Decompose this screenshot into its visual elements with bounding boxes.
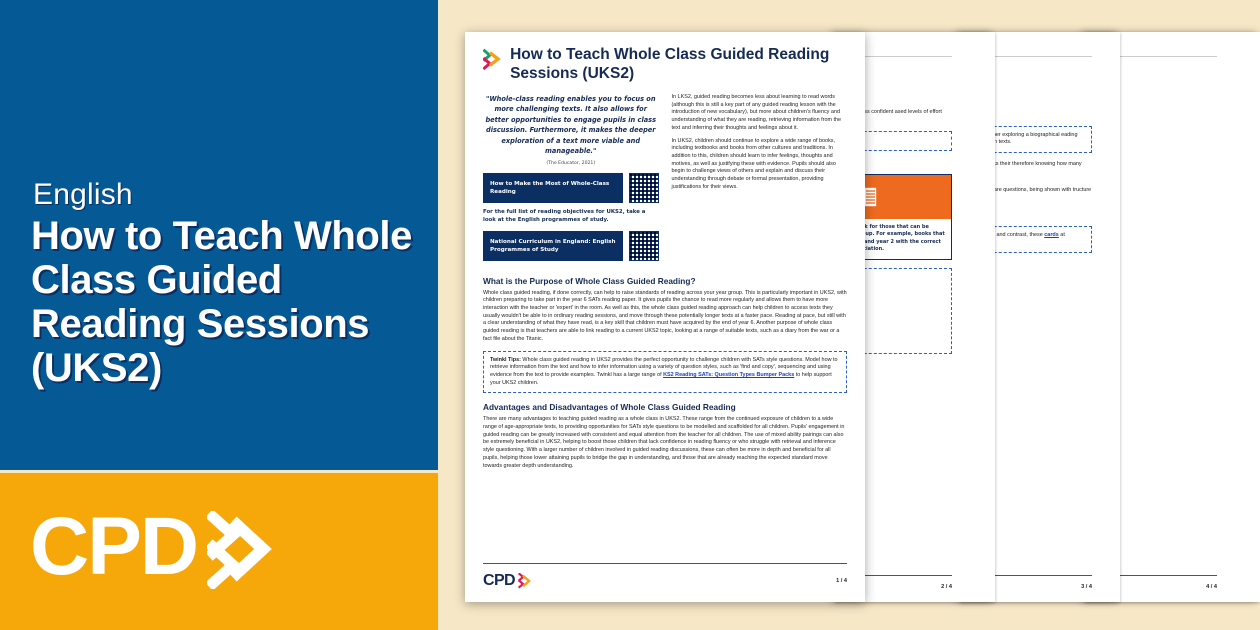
twinkl-chevrons-icon [483,46,501,72]
left-brand-panel: English How to Teach Whole Class Guided … [0,0,438,630]
purpose-body: Whole class guided reading, if done corr… [483,290,847,344]
link-card-1-label[interactable]: How to Make the Most of Whole-Class Read… [483,173,623,203]
page-title: How to Teach Whole Class Guided Reading … [31,214,426,390]
intro-paragraph-2: In UKS2, children should continue to exp… [672,138,848,192]
link-card-2-label[interactable]: National Curriculum in England: English … [483,231,623,261]
twinkl-tips-box: Twinkl Tips: Whole class guided reading … [483,351,847,394]
screenshot-canvas: English How to Teach Whole Class Guided … [0,0,1260,630]
document-page-1[interactable]: How to Teach Whole Class Guided Reading … [465,32,865,602]
pull-quote: "Whole-class reading enables you to focu… [483,94,659,156]
footer-cpd-logo: CPD [483,572,532,590]
cpd-wordmark: CPD [30,506,197,588]
heading-advantages: Advantages and Disadvantages of Whole Cl… [483,402,847,412]
footer-rule [483,563,847,564]
qr-code-icon[interactable] [629,231,659,261]
document-header: How to Teach Whole Class Guided Reading … [483,46,847,83]
page-number: 2 / 4 [941,584,952,590]
page-1-columns: "Whole-class reading enables you to focu… [483,94,847,267]
qr-code-icon[interactable] [629,173,659,203]
subject-label: English [33,178,133,212]
page-number: 3 / 4 [1081,584,1092,590]
intro-paragraph-1: In LKS2, guided reading becomes less abo… [672,94,848,133]
column-right: In LKS2, guided reading becomes less abo… [672,94,848,267]
column-left: "Whole-class reading enables you to focu… [483,94,659,267]
cpd-logo: CPD [30,505,277,589]
between-links-text: For the full list of reading objectives … [483,209,659,224]
tip-lead: Twinkl Tips: [490,357,521,363]
page-number: 4 / 4 [1206,584,1217,590]
page-1-content: How to Teach Whole Class Guided Reading … [465,32,865,602]
quote-source: (The Educator, 2021) [483,161,659,166]
link-card-1[interactable]: How to Make the Most of Whole-Class Read… [483,173,659,203]
bumper-packs-link[interactable]: KS2 Reading SATs: Question Types Bumper … [663,372,794,378]
page-1-footer: CPD 1 / 4 [483,563,847,590]
heading-purpose: What is the Purpose of Whole Class Guide… [483,276,847,286]
document-page-stack: pupils and providing We understand the b… [440,0,1260,630]
page-number: 1 / 4 [836,578,847,584]
double-chevron-icon [518,573,532,589]
footer-cpd-wordmark: CPD [483,572,515,590]
double-chevron-icon [207,511,277,589]
advantages-body: There are many advantages to teaching gu… [483,416,847,470]
cards-link[interactable]: cards [1044,232,1059,238]
link-card-2[interactable]: National Curriculum in England: English … [483,231,659,261]
document-title: How to Teach Whole Class Guided Reading … [510,46,847,83]
